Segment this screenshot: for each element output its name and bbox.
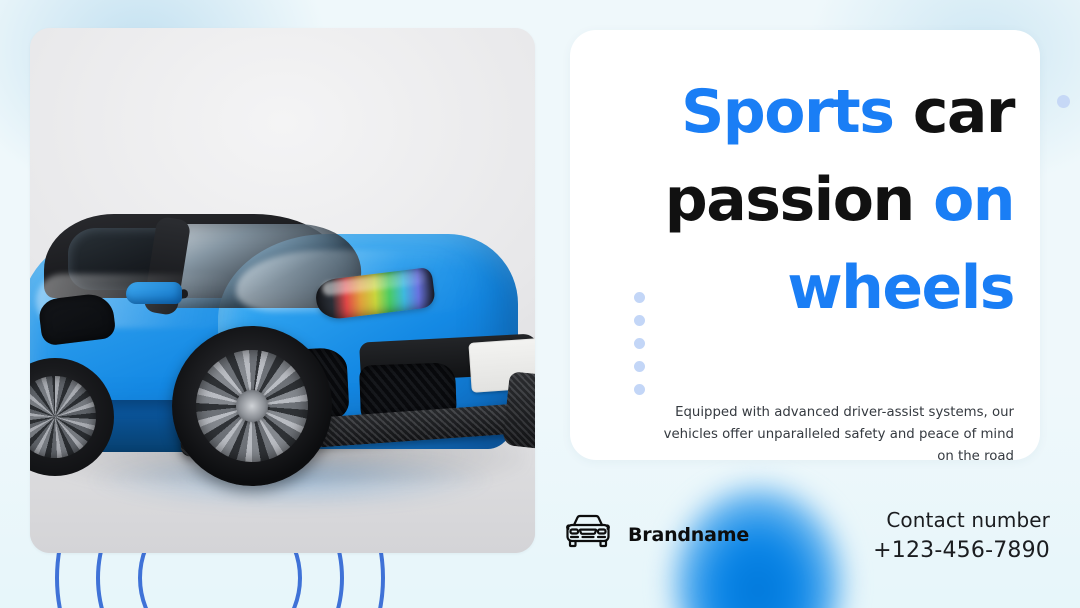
headline-card: Sports car passion on wheels Equipped wi…	[570, 30, 1040, 460]
brand-name-label: Brandname	[628, 524, 749, 546]
headline-word-wheels: wheels	[787, 253, 1014, 323]
headline-word-car: car	[913, 77, 1014, 147]
decorative-dot	[634, 292, 645, 303]
headline-line-1: Sports car	[570, 68, 1014, 156]
body-paragraph: Equipped with advanced driver-assist sys…	[648, 402, 1014, 468]
contact-label: Contact number	[873, 505, 1050, 535]
car-wheel-hub	[236, 390, 268, 422]
decorative-dot	[634, 361, 645, 372]
car-side-mirror	[126, 282, 182, 304]
decorative-dot	[634, 384, 645, 395]
decorative-dot	[634, 338, 645, 349]
brand-logo[interactable]: Brandname	[562, 512, 749, 557]
car-front-icon	[562, 512, 614, 557]
decorative-dot	[634, 315, 645, 326]
headline-line-2: passion on	[570, 156, 1014, 244]
car-side-intake	[37, 292, 116, 347]
contact-number[interactable]: +123-456-7890	[873, 535, 1050, 567]
headline-word-passion: passion	[665, 165, 914, 235]
dot-list-decoration	[634, 292, 645, 395]
corner-dot-decoration	[1057, 95, 1070, 108]
headline-word-sports: Sports	[681, 77, 893, 147]
car-illustration	[30, 28, 535, 553]
contact-block: Contact number +123-456-7890	[873, 505, 1050, 567]
headline-word-on: on	[933, 165, 1014, 235]
car-photo	[30, 28, 535, 553]
